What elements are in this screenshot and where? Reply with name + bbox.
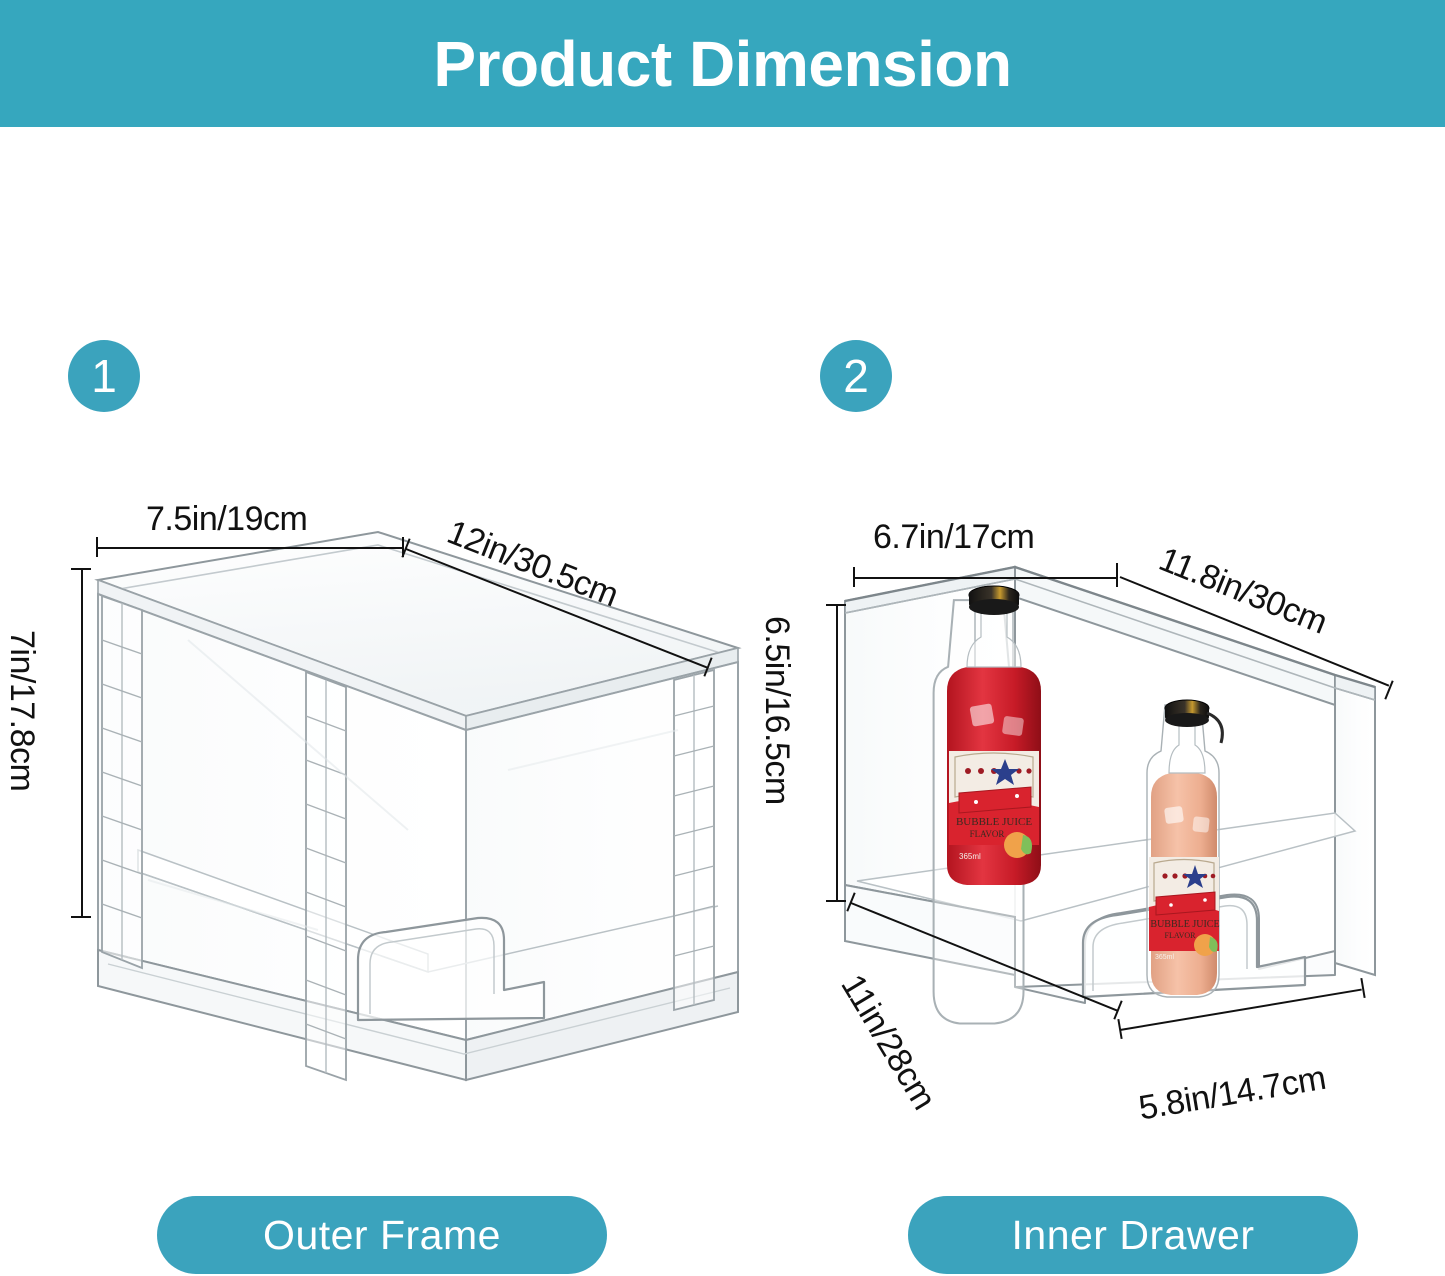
- juice-bottle-red-sub: FLAVOR: [970, 829, 1005, 839]
- caption-outer-frame: Outer Frame: [157, 1196, 607, 1274]
- juice-bottle-red-label: BUBBLE JUICE FLAVOR 365ml: [949, 751, 1039, 861]
- dimline-inner-top-width: [853, 577, 1118, 579]
- juice-bottle-peach-volume: 365ml: [1155, 954, 1175, 961]
- dimline-inner-height: [836, 604, 838, 902]
- caption-inner-drawer-label: Inner Drawer: [1012, 1212, 1255, 1259]
- step-badge-1-number: 1: [91, 353, 117, 399]
- dimcap-inner-top-width-right: [1116, 563, 1118, 587]
- dimcap-inner-height-bottom: [826, 900, 846, 902]
- juice-bottle-red-brand: BUBBLE JUICE: [956, 816, 1032, 828]
- dimline-outer-height: [81, 568, 83, 918]
- caption-inner-drawer: Inner Drawer: [908, 1196, 1358, 1274]
- juice-bottle-peach-label: BUBBLE JUICE FLAVOR 365ml: [1149, 857, 1220, 961]
- dimline-outer-width: [96, 547, 404, 549]
- juice-bottle-peach: BUBBLE JUICE FLAVOR 365ml: [1147, 700, 1222, 997]
- dim-label-outer-width: 7.5in/19cm: [146, 500, 307, 539]
- dimcap-inner-top-width-left: [853, 567, 855, 587]
- outer-frame-right-rail: [674, 670, 714, 1010]
- header-banner: Product Dimension: [0, 0, 1445, 127]
- dimcap-inner-height-top: [826, 604, 846, 606]
- step-badge-2: 2: [820, 340, 892, 412]
- dimcap-outer-width-left: [96, 537, 98, 557]
- step-badge-1: 1: [68, 340, 140, 412]
- outer-frame-illustration: [78, 520, 758, 1130]
- infographic-page: Product Dimension 1 2: [0, 0, 1445, 1276]
- dimcap-outer-height-bottom: [71, 916, 91, 918]
- outer-frame-center-rail: [306, 672, 346, 1080]
- dim-label-outer-height: 7in/17.8cm: [2, 630, 41, 791]
- dimcap-outer-height-top: [71, 568, 91, 570]
- dim-label-inner-height: 6.5in/16.5cm: [757, 616, 796, 805]
- juice-bottle-peach-brand: BUBBLE JUICE: [1150, 919, 1219, 930]
- juice-bottle-red-volume: 365ml: [959, 852, 981, 861]
- page-title: Product Dimension: [433, 32, 1011, 96]
- juice-bottle-peach-sub: FLAVOR: [1165, 931, 1197, 940]
- dim-label-inner-top-width: 6.7in/17cm: [873, 518, 1034, 557]
- outer-frame-left-rail: [102, 596, 142, 968]
- step-badge-2-number: 2: [843, 353, 869, 399]
- caption-outer-frame-label: Outer Frame: [263, 1212, 501, 1259]
